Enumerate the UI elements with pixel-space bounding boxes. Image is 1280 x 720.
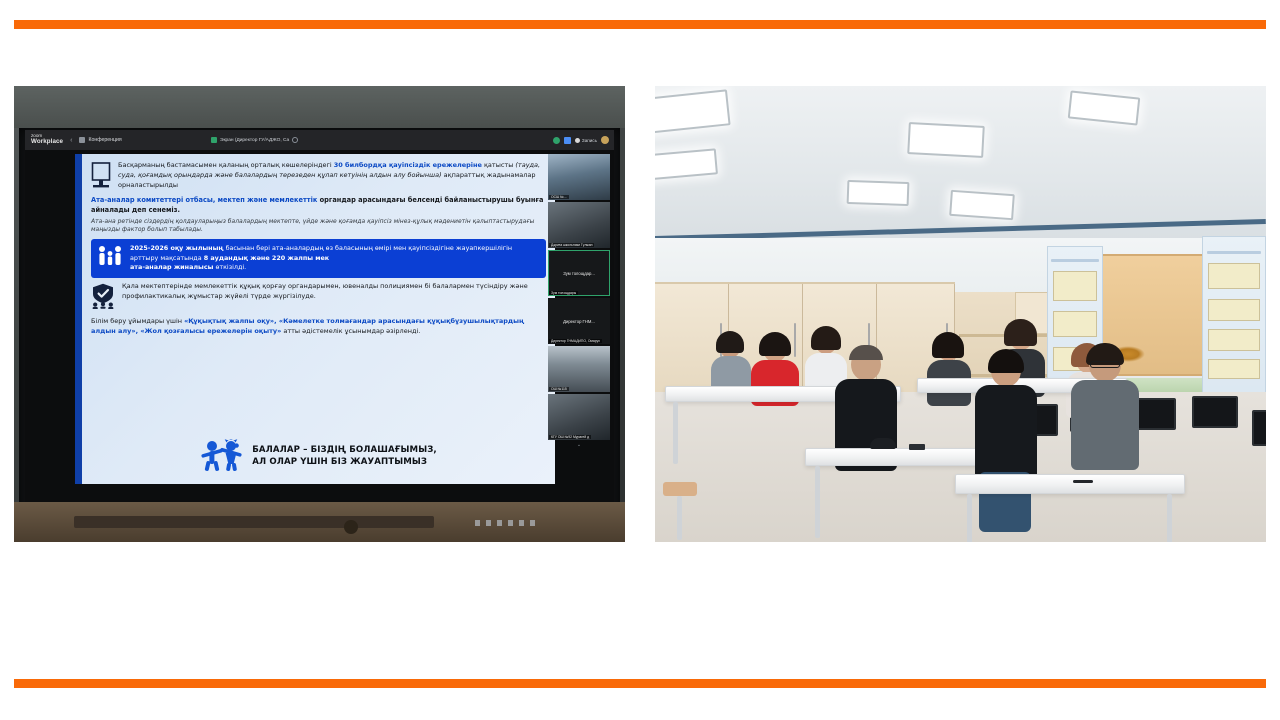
zoom-logo: zoom Workplace bbox=[31, 134, 63, 145]
poster-box bbox=[1208, 359, 1260, 379]
desk-leg bbox=[967, 494, 972, 542]
hair bbox=[932, 332, 964, 358]
slide-paragraph-4: Білім беру ұйымдары үшін «Құқықтық жалпы… bbox=[91, 317, 546, 337]
shared-screen-area: Басқарманың бастамасымен қаланың орталық… bbox=[25, 150, 614, 506]
participant-name: КГУ ОШ №92 Мурагей д bbox=[549, 435, 591, 439]
hair bbox=[716, 331, 744, 353]
chair-seat bbox=[663, 482, 697, 496]
ceiling-light bbox=[907, 122, 985, 158]
tab-conference[interactable]: Конференция bbox=[79, 137, 121, 143]
zoom-application: zoom Workplace ‹ Конференция Экран (Дире… bbox=[25, 130, 614, 534]
desk-leg bbox=[1167, 494, 1172, 542]
participant-video bbox=[548, 154, 610, 200]
hair bbox=[811, 326, 841, 350]
screen-share-icon bbox=[211, 137, 217, 143]
desk-leg bbox=[673, 402, 678, 464]
slide-block-police-work: Қала мектептерінде мемлекеттік құқық қор… bbox=[91, 282, 546, 313]
people-icon bbox=[79, 137, 85, 143]
participant-name: Дәриға школьники Гүлжан bbox=[549, 243, 594, 247]
record-icon bbox=[575, 138, 580, 143]
participant-thumbnail[interactable]: Дәриға школьники Гүлжан bbox=[548, 202, 610, 248]
poster-line bbox=[1207, 251, 1262, 254]
slide-highlight-text: 2025-2026 оқу жылының басынан бері ата-а… bbox=[130, 244, 538, 273]
avatar[interactable] bbox=[601, 136, 609, 144]
poster-box bbox=[1208, 299, 1260, 321]
shield-icon[interactable] bbox=[553, 137, 560, 144]
shield-people-icon bbox=[91, 282, 115, 313]
recording-indicator[interactable]: Запись bbox=[575, 138, 597, 143]
ceiling-light bbox=[847, 180, 910, 206]
recording-label: Запись bbox=[582, 138, 597, 143]
info-icon bbox=[292, 137, 298, 143]
poster-box bbox=[1208, 329, 1260, 351]
tab-conference-label: Конференция bbox=[88, 137, 121, 143]
zoom-meeting-body: Басқарманың бастамасымен қаланың орталық… bbox=[25, 150, 614, 506]
tv-stand-shelf bbox=[74, 516, 434, 528]
chevron-left-icon[interactable]: ‹ bbox=[70, 137, 72, 144]
parents-children-icon bbox=[97, 244, 123, 271]
desk-leg bbox=[815, 466, 820, 538]
hair bbox=[759, 332, 791, 356]
photo-zoom-meeting-screen: zoom Workplace ‹ Конференция Экран (Дире… bbox=[14, 86, 625, 542]
zoom-brand-main: Workplace bbox=[31, 139, 63, 146]
participant-name: Зум толощдары bbox=[549, 291, 578, 295]
participant-name: ОШ №115 bbox=[549, 387, 569, 391]
slide-tagline: БАЛАЛАР – БІЗДІҢ БОЛАШАҒЫМЫЗ, АЛ ОЛАР ҮШ… bbox=[91, 439, 546, 480]
participant-thumbnail[interactable]: КГУ ОШ №92 Мурагей д bbox=[548, 394, 610, 440]
stand-knob bbox=[344, 520, 358, 534]
tv-stand bbox=[14, 502, 625, 542]
classroom-scene bbox=[655, 86, 1266, 542]
participant-thumbnail[interactable]: Директор ГНМ... Директор ГНМАДИПО, Омару… bbox=[548, 298, 610, 344]
bottom-orange-rule bbox=[14, 679, 1266, 688]
chevron-down-icon[interactable]: ⌄ bbox=[548, 442, 610, 448]
hair bbox=[1004, 319, 1037, 346]
participant-thumbnail[interactable]: ОСШ №... bbox=[548, 154, 610, 200]
two-children-icon bbox=[200, 439, 244, 475]
eyeglasses bbox=[1090, 361, 1120, 368]
participant-display-name: Зум толощдар... bbox=[563, 271, 595, 276]
top-orange-rule bbox=[14, 20, 1266, 29]
slide-paragraph-3: Қала мектептерінде мемлекеттік құқық қор… bbox=[122, 282, 546, 302]
participant-video bbox=[548, 394, 610, 440]
slide-block-methodology: Білім беру ұйымдары үшін «Құқықтық жалпы… bbox=[91, 317, 546, 337]
torso bbox=[1071, 380, 1139, 470]
participant-video bbox=[548, 346, 610, 392]
participant-thumbnail[interactable]: ОШ №115 bbox=[548, 346, 610, 392]
monitor bbox=[1252, 410, 1266, 446]
tv-screen: zoom Workplace ‹ Конференция Экран (Дире… bbox=[19, 128, 620, 536]
speaker-grille bbox=[475, 520, 535, 526]
participant-filmstrip[interactable]: ОСШ №... Дәриға школьники Гүлжан Зум тол… bbox=[548, 154, 610, 502]
monitor bbox=[1192, 396, 1238, 428]
cap-on-desk bbox=[870, 438, 896, 449]
torso bbox=[975, 385, 1037, 481]
participant-name: ОСШ №... bbox=[549, 195, 569, 199]
billboard-icon bbox=[91, 161, 111, 192]
desk bbox=[955, 474, 1185, 494]
slide-paragraph-1: Басқарманың бастамасымен қаланың орталық… bbox=[118, 161, 546, 190]
signal-icon[interactable] bbox=[564, 137, 571, 144]
participant-display-name: Директор ГНМ... bbox=[563, 319, 595, 324]
presentation-slide: Басқарманың бастамасымен қаланың орталық… bbox=[75, 154, 555, 484]
wall-poster bbox=[1202, 236, 1266, 406]
slide-block-parents-committee: Ата-аналар комитеттері отбасы, мектеп жә… bbox=[91, 196, 546, 235]
tagline-line-1: БАЛАЛАР – БІЗДІҢ БОЛАШАҒЫМЫЗ, bbox=[252, 445, 437, 455]
poster-box bbox=[1208, 263, 1260, 289]
zoom-top-bar: zoom Workplace ‹ Конференция Экран (Дире… bbox=[25, 130, 614, 150]
participant-thumbnail[interactable]: Зум толощдар... Зум толощдары bbox=[548, 250, 610, 296]
slide-paragraph-2: Ата-аналар комитеттері отбасы, мектеп жә… bbox=[91, 196, 546, 235]
mobile-phone bbox=[909, 444, 925, 450]
ceiling-light bbox=[949, 190, 1015, 220]
tagline-line-2: АЛ ОЛАР ҮШІН БІЗ ЖАУАПТЫМЫЗ bbox=[252, 457, 427, 467]
slide-block-billboards: Басқарманың бастамасымен қаланың орталық… bbox=[91, 161, 546, 192]
pen-on-desk bbox=[1073, 480, 1093, 483]
slide-tagline-text: БАЛАЛАР – БІЗДІҢ БОЛАШАҒЫМЫЗ, АЛ ОЛАР ҮШ… bbox=[252, 445, 437, 468]
cabinet-handle bbox=[794, 323, 796, 357]
participant-video bbox=[548, 202, 610, 248]
photo-classroom-audience bbox=[655, 86, 1266, 542]
poster-box bbox=[1053, 311, 1096, 337]
participant-name: Директор ГНМАДИПО, Омарух bbox=[549, 339, 602, 343]
poster-box bbox=[1053, 271, 1096, 301]
tv-bezel: zoom Workplace ‹ Конференция Экран (Дире… bbox=[14, 86, 625, 542]
top-bar-status-group: Запись bbox=[553, 136, 609, 144]
slide-highlight-box: 2025-2026 оқу жылының басынан бері ата-а… bbox=[91, 239, 546, 278]
poster-line bbox=[1051, 259, 1099, 262]
shared-screen-label: Экран (Директор ГУ/АДЖО, Са bbox=[220, 138, 289, 143]
wall-strip bbox=[14, 86, 625, 128]
chair-leg bbox=[677, 496, 682, 540]
shared-screen-indicator[interactable]: Экран (Директор ГУ/АДЖО, Са bbox=[211, 137, 298, 143]
